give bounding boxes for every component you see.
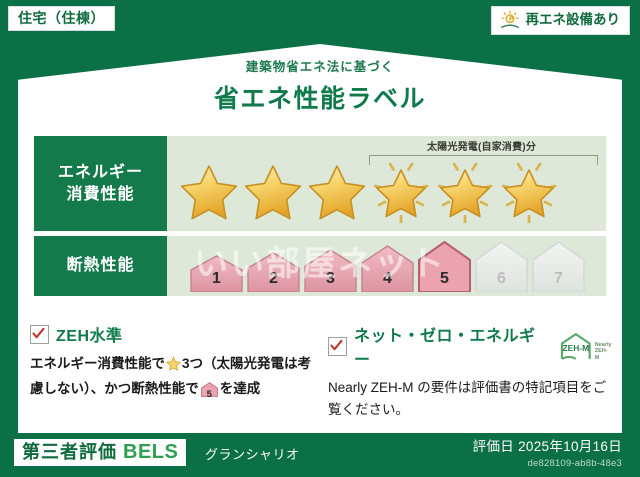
evaluation-date-label: 評価日 bbox=[473, 439, 514, 454]
row-insulation-performance: 断熱性能 bbox=[34, 236, 606, 296]
insulation-grade-6: 6 bbox=[474, 240, 529, 292]
check-icon bbox=[330, 339, 343, 352]
insulation-grade-2: 2 bbox=[246, 251, 301, 292]
criterion-zeh-header: ZEH水準 bbox=[30, 322, 314, 346]
criterion-zeh-title: ZEH水準 bbox=[56, 322, 123, 346]
row-energy-performance: エネルギー 消費性能 太陽光発電(自家消費)分 bbox=[34, 136, 606, 231]
zeh-m-sub-line2: ZEH-M bbox=[595, 348, 608, 360]
star-2 bbox=[241, 156, 305, 224]
zeh-m-logo-text: ZEH-M bbox=[563, 343, 590, 353]
criterion-zeh-text-end: を達成 bbox=[220, 381, 261, 396]
criterion-nze-header: ネット・ゼロ・エネルギー ZEH-M Nearly ZEH-M bbox=[328, 322, 612, 370]
star-rating bbox=[177, 156, 602, 224]
label-title-block: 建築物省エネ法に基づく 省エネ性能ラベル bbox=[0, 56, 640, 115]
bels-badge-en: BELS bbox=[123, 442, 178, 462]
star-4-solar bbox=[369, 156, 433, 224]
inline-house-5-icon: 5 bbox=[201, 382, 218, 404]
evaluation-date-value: 2025年10月16日 bbox=[518, 439, 622, 454]
row-insulation-label: 断熱性能 bbox=[34, 236, 167, 296]
row-energy-label-line1: エネルギー bbox=[58, 162, 143, 184]
footer-meta: 評価日 2025年10月16日 de828109-ab8b-48e3 bbox=[473, 435, 622, 469]
criterion-nze-body: Nearly ZEH-M の要件は評価書の特記項目をご覧ください。 bbox=[328, 377, 612, 421]
nze-checkbox bbox=[328, 337, 347, 356]
star-6-solar bbox=[497, 156, 561, 224]
building-name: グランシャリオ bbox=[205, 444, 300, 463]
title-main: 省エネ性能ラベル bbox=[0, 79, 640, 115]
zeh-m-sub-line1: Nearly bbox=[595, 342, 612, 348]
insulation-grade-2-value: 2 bbox=[246, 270, 301, 288]
insulation-grade-1: 1 bbox=[189, 254, 244, 292]
row-insulation-label-line1: 断熱性能 bbox=[66, 255, 134, 277]
insulation-grade-6-value: 6 bbox=[474, 270, 529, 288]
row-insulation-body: 1 2 3 bbox=[167, 236, 606, 296]
criterion-zeh-body: エネルギー消費性能で3つ（太陽光発電は考慮しない）、かつ断熱性能で5を達成 bbox=[30, 353, 314, 404]
check-icon bbox=[32, 327, 45, 340]
energy-performance-label: 住宅（住棟） 再エネ設備あり 建築物省エネ法に基づく 省エネ性能ラベル いい bbox=[0, 0, 640, 477]
insulation-grade-3-value: 3 bbox=[303, 270, 358, 288]
badge-renewable-equipment: 再エネ設備あり bbox=[491, 6, 631, 35]
performance-rows: エネルギー 消費性能 太陽光発電(自家消費)分 bbox=[34, 136, 606, 301]
zeh-m-logo-subtext: Nearly ZEH-M bbox=[595, 342, 612, 361]
insulation-grade-5-achieved: 5 bbox=[417, 240, 472, 292]
bels-badge: 第三者評価 BELS bbox=[14, 439, 186, 466]
inline-house-5-value: 5 bbox=[201, 387, 218, 402]
row-energy-body: 太陽光発電(自家消費)分 bbox=[167, 136, 606, 231]
inline-star-icon bbox=[166, 356, 181, 378]
insulation-grade-1-value: 1 bbox=[189, 270, 244, 288]
badge-building-type-label: 住宅（住棟） bbox=[18, 10, 105, 26]
star-3 bbox=[305, 156, 369, 224]
badge-building-type: 住宅（住棟） bbox=[8, 6, 115, 31]
criterion-zeh-standard: ZEH水準 エネルギー消費性能で3つ（太陽光発電は考慮しない）、かつ断熱性能で5… bbox=[30, 322, 314, 421]
evaluation-date: 評価日 2025年10月16日 bbox=[473, 435, 622, 455]
insulation-grade-7: 7 bbox=[531, 240, 586, 292]
zeh-m-logo: ZEH-M Nearly ZEH-M bbox=[559, 331, 612, 361]
star-1 bbox=[177, 156, 241, 224]
row-energy-label: エネルギー 消費性能 bbox=[34, 136, 167, 231]
criterion-zeh-text-before: エネルギー消費性能で bbox=[30, 356, 165, 371]
criteria-section: ZEH水準 エネルギー消費性能で3つ（太陽光発電は考慮しない）、かつ断熱性能で5… bbox=[30, 322, 612, 421]
label-footer: 第三者評価 BELS グランシャリオ 評価日 2025年10月16日 de828… bbox=[0, 431, 640, 477]
solar-sun-icon bbox=[499, 10, 521, 30]
insulation-grade-5-value: 5 bbox=[417, 270, 472, 288]
insulation-grade-7-value: 7 bbox=[531, 270, 586, 288]
insulation-grade-scale: 1 2 3 bbox=[189, 240, 588, 292]
criterion-nze-title: ネット・ゼロ・エネルギー bbox=[354, 322, 547, 370]
criterion-net-zero-energy: ネット・ゼロ・エネルギー ZEH-M Nearly ZEH-M Nearly Z… bbox=[328, 322, 612, 421]
evaluation-id: de828109-ab8b-48e3 bbox=[473, 458, 622, 469]
insulation-grade-4: 4 bbox=[360, 244, 415, 292]
bels-badge-jp: 第三者評価 bbox=[22, 443, 117, 461]
insulation-grade-4-value: 4 bbox=[360, 270, 415, 288]
row-energy-label-line2: 消費性能 bbox=[66, 184, 134, 206]
insulation-grade-3: 3 bbox=[303, 248, 358, 292]
solar-bracket-caption: 太陽光発電(自家消費)分 bbox=[357, 138, 606, 153]
star-5-solar bbox=[433, 156, 497, 224]
zeh-m-house-icon: ZEH-M bbox=[559, 331, 593, 361]
zeh-checkbox bbox=[30, 325, 49, 344]
badge-renewable-label: 再エネ設備あり bbox=[526, 13, 621, 27]
title-subtitle: 建築物省エネ法に基づく bbox=[0, 56, 640, 75]
